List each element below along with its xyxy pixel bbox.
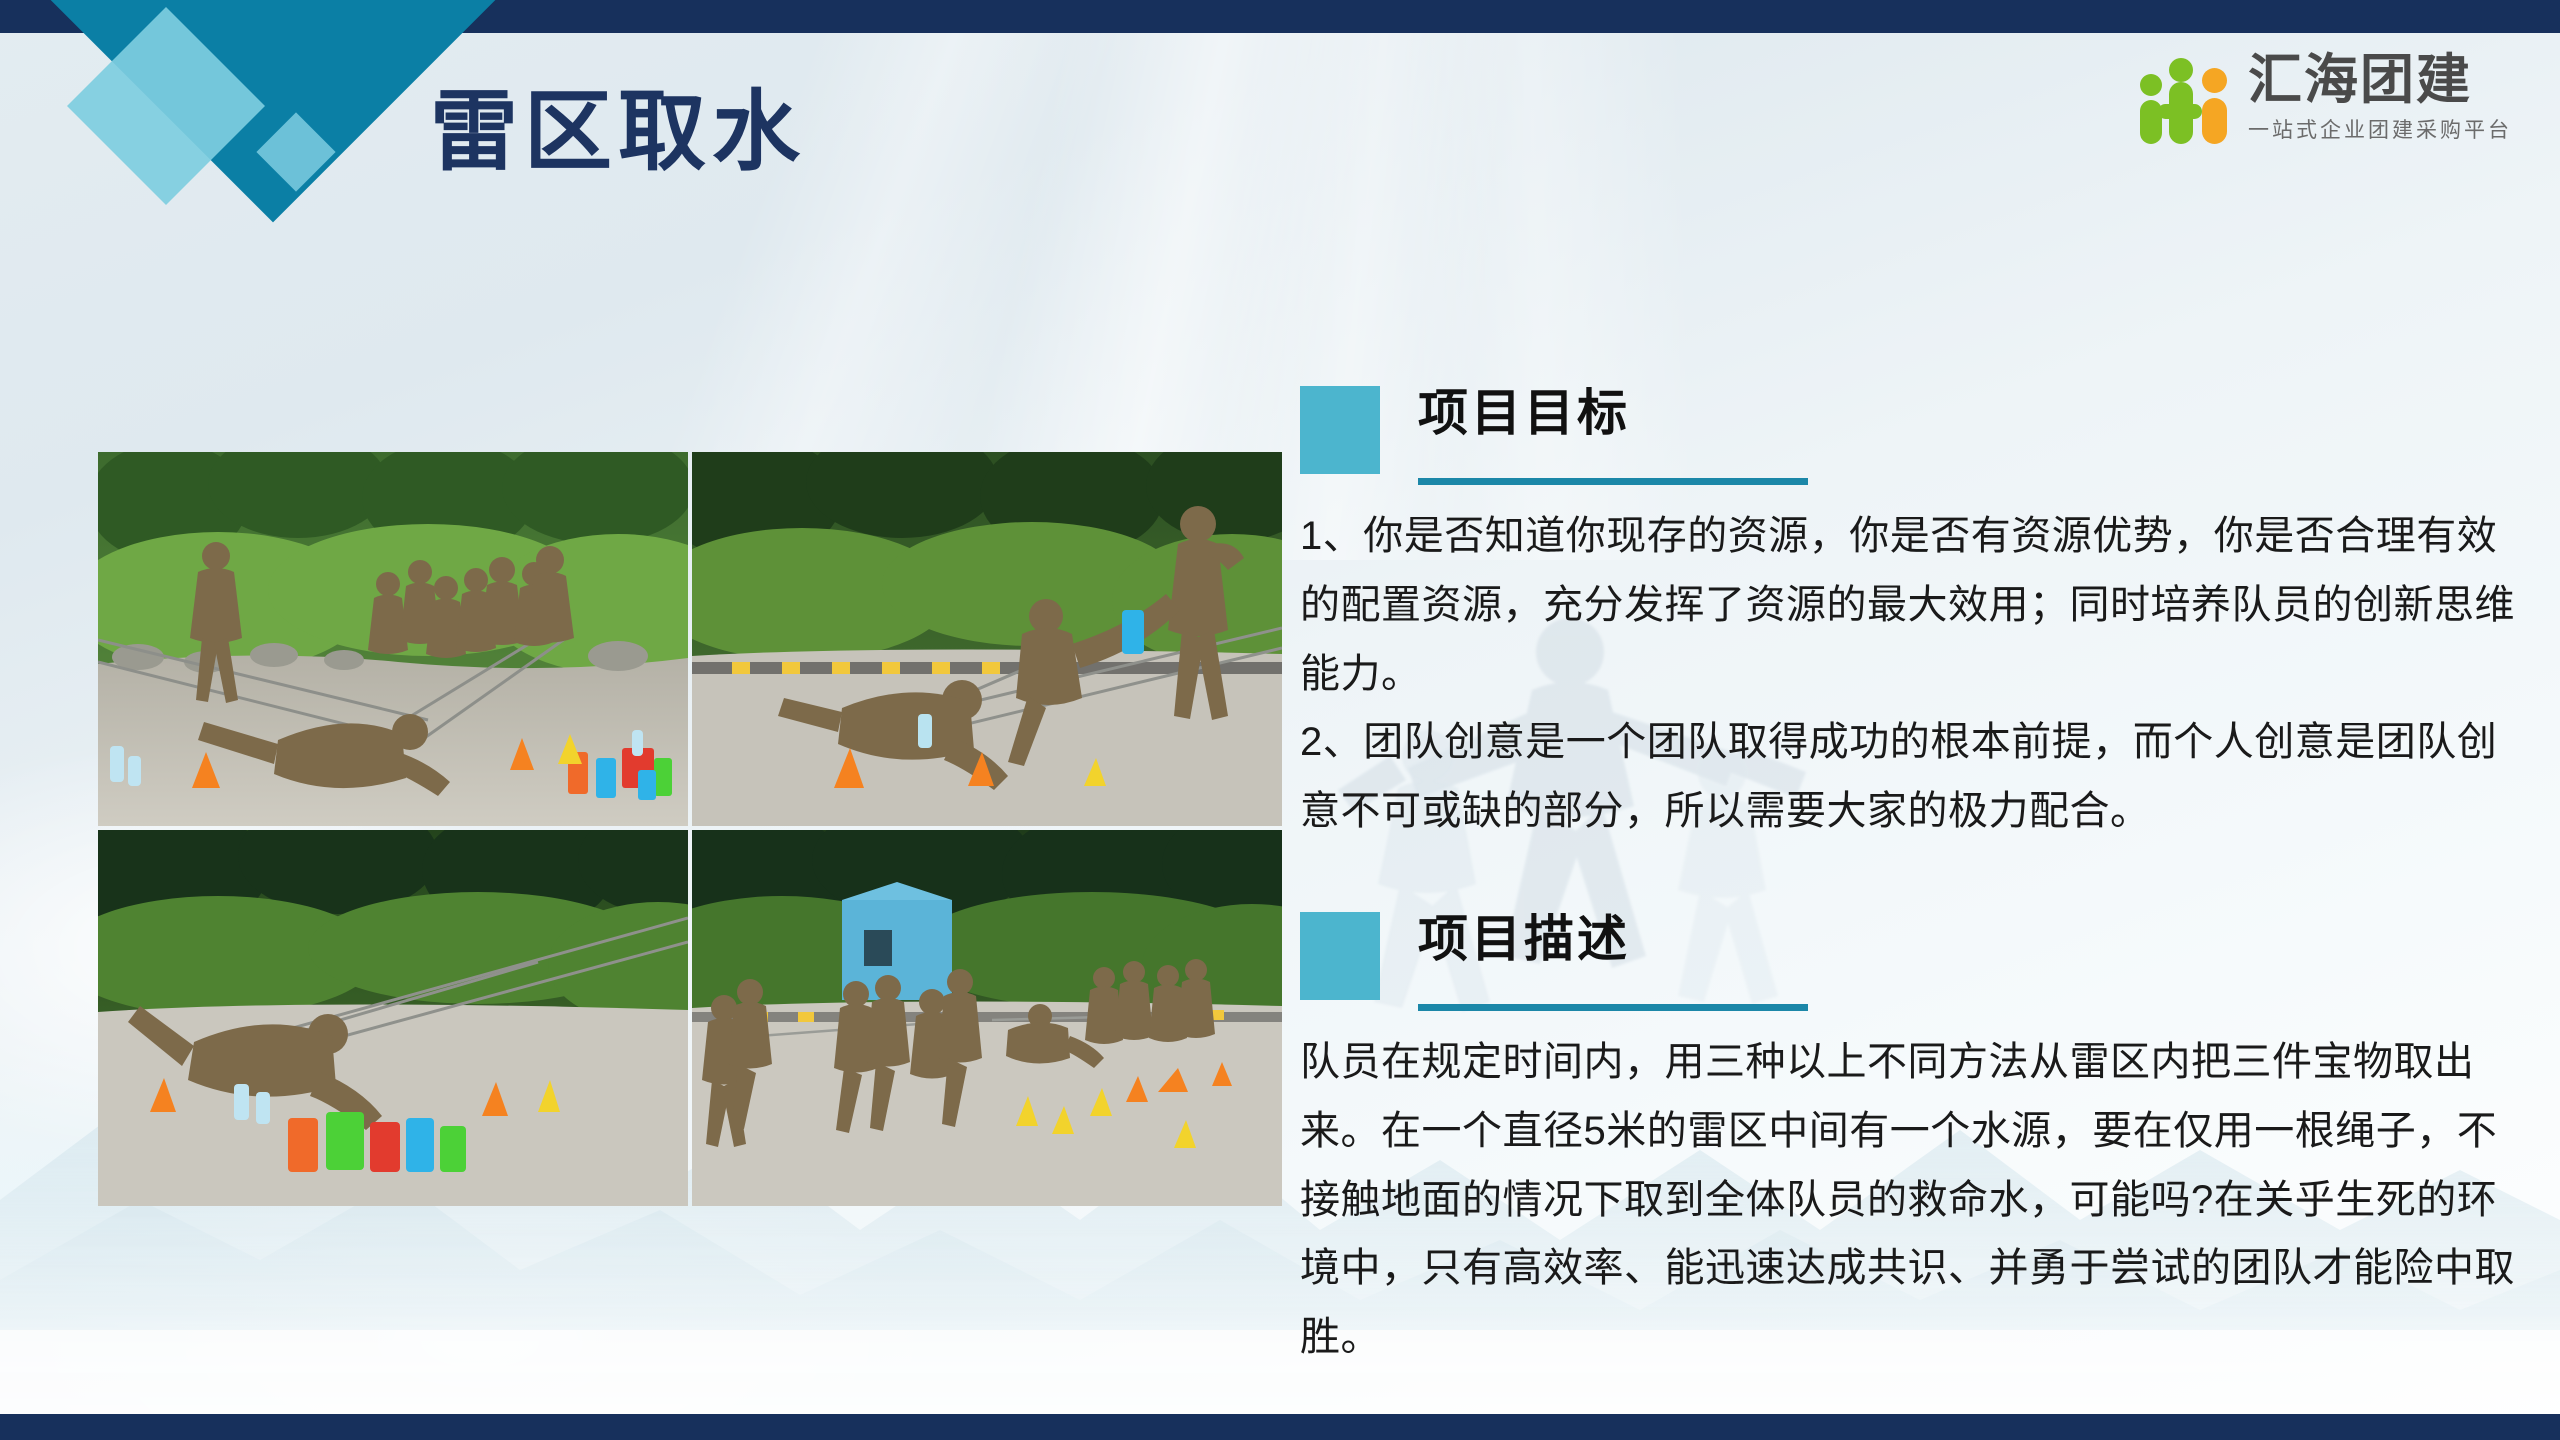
- section-header: 项目描述: [1300, 904, 2530, 1026]
- brand-logo: 汇海团建 一站式企业团建采购平台: [2138, 52, 2512, 144]
- section-accent-square: [1300, 912, 1380, 1000]
- bottom-bar: [0, 1414, 2560, 1440]
- section-header: 项目目标: [1300, 378, 2530, 500]
- gallery-photo-3[interactable]: [98, 830, 688, 1206]
- description-paragraph-1: 队员在规定时间内，用三种以上不同方法从雷区内把三件宝物取出来。在一个直径5米的雷…: [1300, 1028, 2530, 1372]
- section-title: 项目目标: [1418, 386, 1630, 441]
- objectives-paragraph-1: 1、你是否知道你现存的资源，你是否有资源优势，你是否合理有效的配置资源，充分发挥…: [1300, 502, 2530, 708]
- brand-name: 汇海团建: [2248, 52, 2512, 108]
- gallery-photo-1[interactable]: [98, 452, 688, 826]
- gallery-photo-4[interactable]: [692, 830, 1282, 1206]
- objectives-paragraph-2: 2、团队创意是一个团队取得成功的根本前提，而个人创意是团队创意不可或缺的部分，所…: [1300, 708, 2530, 846]
- section-body: 1、你是否知道你现存的资源，你是否有资源优势，你是否合理有效的配置资源，充分发挥…: [1300, 502, 2530, 846]
- section-title: 项目描述: [1418, 912, 1630, 967]
- content-column: 项目目标 1、你是否知道你现存的资源，你是否有资源优势，你是否合理有效的配置资源…: [1300, 378, 2530, 1372]
- section-description: 项目描述 队员在规定时间内，用三种以上不同方法从雷区内把三件宝物取出来。在一个直…: [1300, 904, 2530, 1372]
- section-objectives: 项目目标 1、你是否知道你现存的资源，你是否有资源优势，你是否合理有效的配置资源…: [1300, 378, 2530, 846]
- photo-gallery: [98, 452, 1282, 1228]
- section-body: 队员在规定时间内，用三种以上不同方法从雷区内把三件宝物取出来。在一个直径5米的雷…: [1300, 1028, 2530, 1372]
- slide-root: 雷区取水 汇海团建 一站式企业团建采购平台: [0, 0, 2560, 1440]
- section-underline: [1418, 1004, 1808, 1011]
- hi-monogram-icon: [2138, 52, 2234, 144]
- section-accent-square: [1300, 386, 1380, 474]
- page-title: 雷区取水: [430, 88, 806, 176]
- gallery-photo-2[interactable]: [692, 452, 1282, 826]
- section-underline: [1418, 478, 1808, 485]
- brand-tagline: 一站式企业团建采购平台: [2248, 114, 2512, 144]
